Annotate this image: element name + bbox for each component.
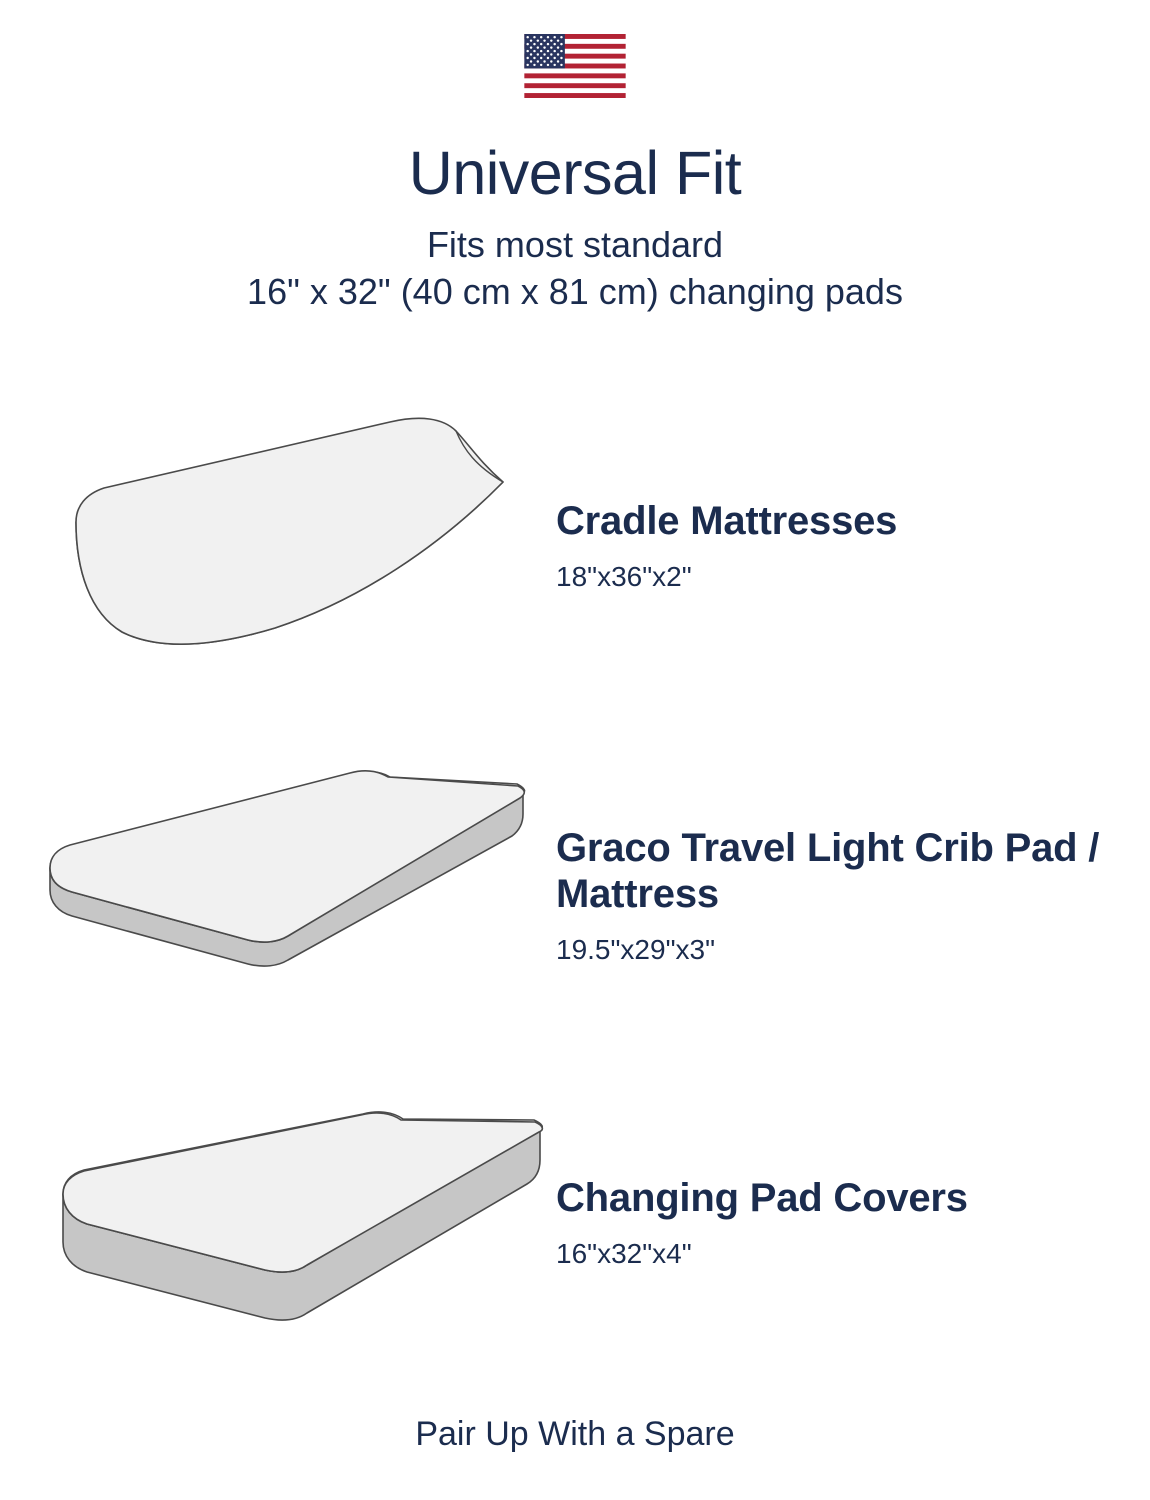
product-dimensions: 19.5"x29"x3" xyxy=(556,933,1116,967)
thick-changing-pad-icon xyxy=(45,1110,555,1330)
page-title: Universal Fit xyxy=(0,143,1150,204)
product-text-block: Changing Pad Covers 16"x32"x4" xyxy=(556,1175,1116,1271)
subtitle-line-2: 16" x 32" (40 cm x 81 cm) changing pads xyxy=(0,269,1150,316)
flat-crib-mattress-icon xyxy=(20,760,550,990)
product-text-block: Cradle Mattresses 18"x36"x2" xyxy=(556,498,1116,594)
product-list: Cradle Mattresses 18"x36"x2" Graco Trave… xyxy=(0,400,1150,1400)
footer-tagline: Pair Up With a Spare xyxy=(0,1415,1150,1454)
us-flag-icon xyxy=(524,34,626,98)
product-dimensions: 18"x36"x2" xyxy=(556,560,1116,594)
product-title: Changing Pad Covers xyxy=(556,1175,1116,1221)
product-text-block: Graco Travel Light Crib Pad / Mattress 1… xyxy=(556,825,1116,967)
product-title: Cradle Mattresses xyxy=(556,498,1116,544)
product-dimensions: 16"x32"x4" xyxy=(556,1237,1116,1271)
contoured-changing-pad-icon xyxy=(60,410,560,650)
subtitle-line-1: Fits most standard xyxy=(0,222,1150,269)
page-subtitle: Fits most standard 16" x 32" (40 cm x 81… xyxy=(0,222,1150,316)
product-title: Graco Travel Light Crib Pad / Mattress xyxy=(556,825,1116,917)
header: Universal Fit Fits most standard 16" x 3… xyxy=(0,0,1150,316)
